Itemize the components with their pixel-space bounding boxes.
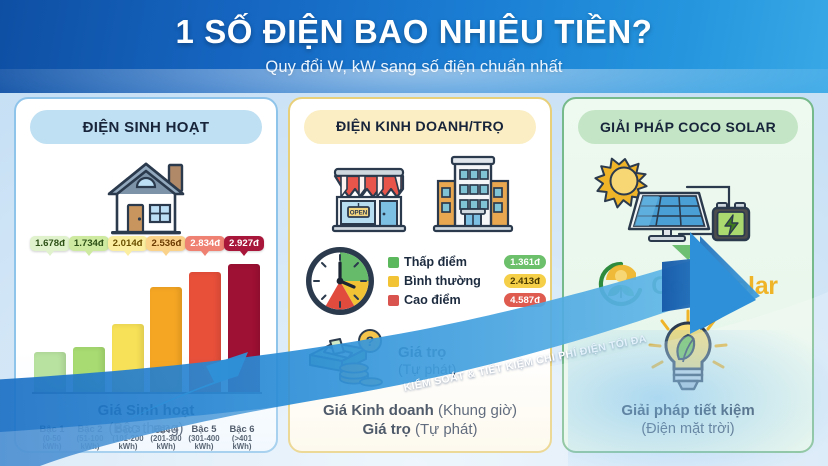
time-of-use-rows: Thấp điểm1.361đBình thường2.413đCao điểm…: [388, 255, 546, 307]
legend-swatch: [388, 295, 399, 306]
bar-column: 2.927đ: [228, 260, 260, 392]
bar: [34, 352, 66, 392]
bar-column: 2.834đ: [189, 260, 221, 392]
house-icon: [16, 147, 276, 247]
solar-system-illustration: [564, 151, 812, 243]
page-title: 1 SỐ ĐIỆN BAO NHIÊU TIỀN?: [0, 13, 828, 51]
business-footer-main: Giá Kinh doanh: [323, 402, 434, 419]
bar-column: 1.678đ: [34, 260, 66, 392]
business-footer-line2: Giá trọ (Tự phát): [290, 420, 550, 439]
legend-swatch: [388, 276, 399, 287]
bar: [112, 324, 144, 392]
coco-solar-wordmark: CoCoSolar: [651, 272, 777, 301]
panel-solar: GIẢI PHÁP COCO SOLAR: [562, 97, 814, 453]
header-banner: 1 SỐ ĐIỆN BAO NHIÊU TIỀN? Quy đổi W, kW …: [0, 0, 828, 93]
money-stack-icon: ?: [304, 327, 390, 394]
bar-value-label: 1.678đ: [30, 236, 70, 252]
bar-column: 1.734đ: [73, 260, 105, 392]
business-footer-sub-main: Giá trọ: [362, 421, 410, 438]
panel-business-heading: ĐIỆN KINH DOANH/TRỌ: [304, 110, 536, 144]
apartment-icon: [430, 149, 516, 242]
residential-footer-main: Giá Sinh hoạt: [16, 401, 276, 420]
page-subtitle: Quy đổi W, kW sang số điện chuẩn nhất: [0, 58, 828, 77]
logo-part-coco: CoCo: [651, 272, 716, 300]
time-of-use-row: Bình thường2.413đ: [388, 274, 546, 288]
clock-icon: [300, 243, 380, 319]
bar: [73, 347, 105, 392]
time-of-use-row: Cao điểm4.587đ: [388, 293, 546, 307]
time-of-use-legend: Thấp điểm1.361đBình thường2.413đCao điểm…: [300, 237, 546, 325]
panel-business-footer: Giá Kinh doanh (Khung giờ) Giá trọ (Tự p…: [290, 401, 550, 439]
time-of-use-row: Thấp điểm1.361đ: [388, 255, 546, 269]
solar-footer-sub: (Điện mặt trời): [564, 420, 812, 439]
business-footer-sub-note: (Tự phát): [415, 421, 478, 438]
time-of-use-label: Thấp điểm: [404, 255, 467, 269]
time-of-use-price: 2.413đ: [504, 274, 546, 288]
panel-residential-heading: ĐIỆN SINH HOẠT: [30, 110, 262, 144]
rental-price-text: Giá trọ (Tự phát): [398, 344, 456, 377]
legend-swatch: [388, 257, 399, 268]
svg-text:OPEN: OPEN: [350, 210, 368, 217]
time-of-use-price: 1.361đ: [504, 255, 546, 269]
chart-x-axis: [32, 392, 262, 394]
business-icon-row: OPEN: [290, 149, 550, 242]
eco-lightbulb-icon: [564, 305, 812, 406]
battery-icon: [713, 203, 749, 240]
time-of-use-price: 4.587đ: [504, 293, 546, 307]
residential-tariff-bar-chart: 1.678đ1.734đ2.014đ2.536đ2.834đ2.927đ Bậc…: [34, 249, 260, 409]
bar: [150, 287, 182, 392]
business-footer-main-note: (Khung giờ): [438, 402, 517, 419]
infographic-root: 1 SỐ ĐIỆN BAO NHIÊU TIỀN? Quy đổi W, kW …: [0, 0, 828, 466]
panel-residential: ĐIỆN SINH HOẠT 1.678đ1.734đ2.014đ2.536đ2…: [14, 97, 278, 453]
panel-business: ĐIỆN KINH DOANH/TRỌ OPEN: [288, 97, 552, 453]
bar-column: 2.536đ: [150, 260, 182, 392]
panel-residential-footer: Giá Sinh hoạt (Bậc thang): [16, 401, 276, 439]
logo-part-solar: Solar: [717, 272, 778, 300]
time-of-use-label: Cao điểm: [404, 293, 461, 307]
bar-value-label: 2.834đ: [185, 236, 225, 252]
bar: [228, 264, 260, 392]
business-footer-line1: Giá Kinh doanh (Khung giờ): [290, 401, 550, 420]
solar-footer-main: Giải pháp tiết kiệm: [564, 401, 812, 420]
shop-icon: OPEN: [324, 155, 414, 242]
residential-footer-sub: (Bậc thang): [16, 420, 276, 439]
bar-group: 1.678đ1.734đ2.014đ2.536đ2.834đ2.927đ: [34, 260, 260, 392]
bar-value-label: 2.927đ: [224, 236, 264, 252]
bar: [189, 272, 221, 392]
down-arrow-icon: [672, 245, 704, 260]
svg-text:?: ?: [366, 333, 375, 349]
time-of-use-label: Bình thường: [404, 274, 481, 288]
bar-value-label: 1.734đ: [69, 236, 109, 252]
bar-column: 2.014đ: [112, 260, 144, 392]
bar-value-label: 2.536đ: [146, 236, 186, 252]
panel-solar-footer: Giải pháp tiết kiệm (Điện mặt trời): [564, 401, 812, 439]
bar-value-label: 2.014đ: [108, 236, 148, 252]
rental-price-title: Giá trọ: [398, 344, 456, 361]
panel-solar-heading: GIẢI PHÁP COCO SOLAR: [578, 110, 798, 144]
